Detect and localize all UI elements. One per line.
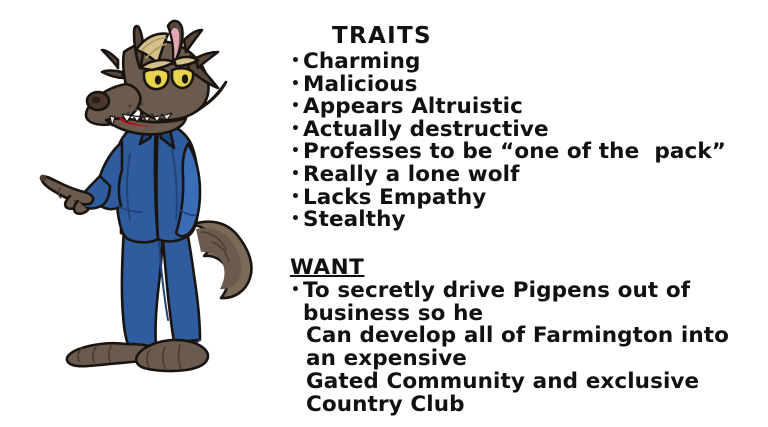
- list-item: Actually destructive: [290, 119, 758, 142]
- wolf-suit-jacket: [80, 122, 200, 242]
- list-item: Charming: [290, 51, 758, 74]
- wolf-pointing-hand: [40, 175, 94, 214]
- list-item: Stealthy: [290, 209, 758, 232]
- want-section: WANT To secretly drive Pigpens out of bu…: [290, 256, 758, 417]
- want-heading: WANT: [290, 256, 364, 280]
- want-body: To secretly drive Pigpens out of busines…: [290, 280, 758, 417]
- wolf-head: [86, 21, 226, 134]
- wolf-character-illustration: [22, 10, 290, 378]
- want-line: Can develop all of Farmington into an ex…: [303, 325, 758, 371]
- list-item: Really a lone wolf: [290, 164, 758, 187]
- wolf-feet: [67, 340, 208, 371]
- wolf-tail: [190, 222, 252, 298]
- list-item: Professes to be “one of the pack”: [290, 141, 758, 164]
- wolf-trousers: [122, 226, 200, 350]
- list-item: Lacks Empathy: [290, 187, 758, 210]
- want-line: To secretly drive Pigpens out of busines…: [303, 278, 690, 326]
- want-line: Gated Community and exclusive Country Cl…: [303, 371, 758, 417]
- list-item: Malicious: [290, 74, 758, 97]
- slide-canvas: TRAITS Charming Malicious Appears Altrui…: [0, 0, 768, 427]
- traits-heading: TRAITS: [332, 22, 758, 51]
- slide-text-column: TRAITS Charming Malicious Appears Altrui…: [290, 22, 758, 417]
- list-item: Appears Altruistic: [290, 96, 758, 119]
- traits-list: Charming Malicious Appears Altruistic Ac…: [290, 51, 758, 232]
